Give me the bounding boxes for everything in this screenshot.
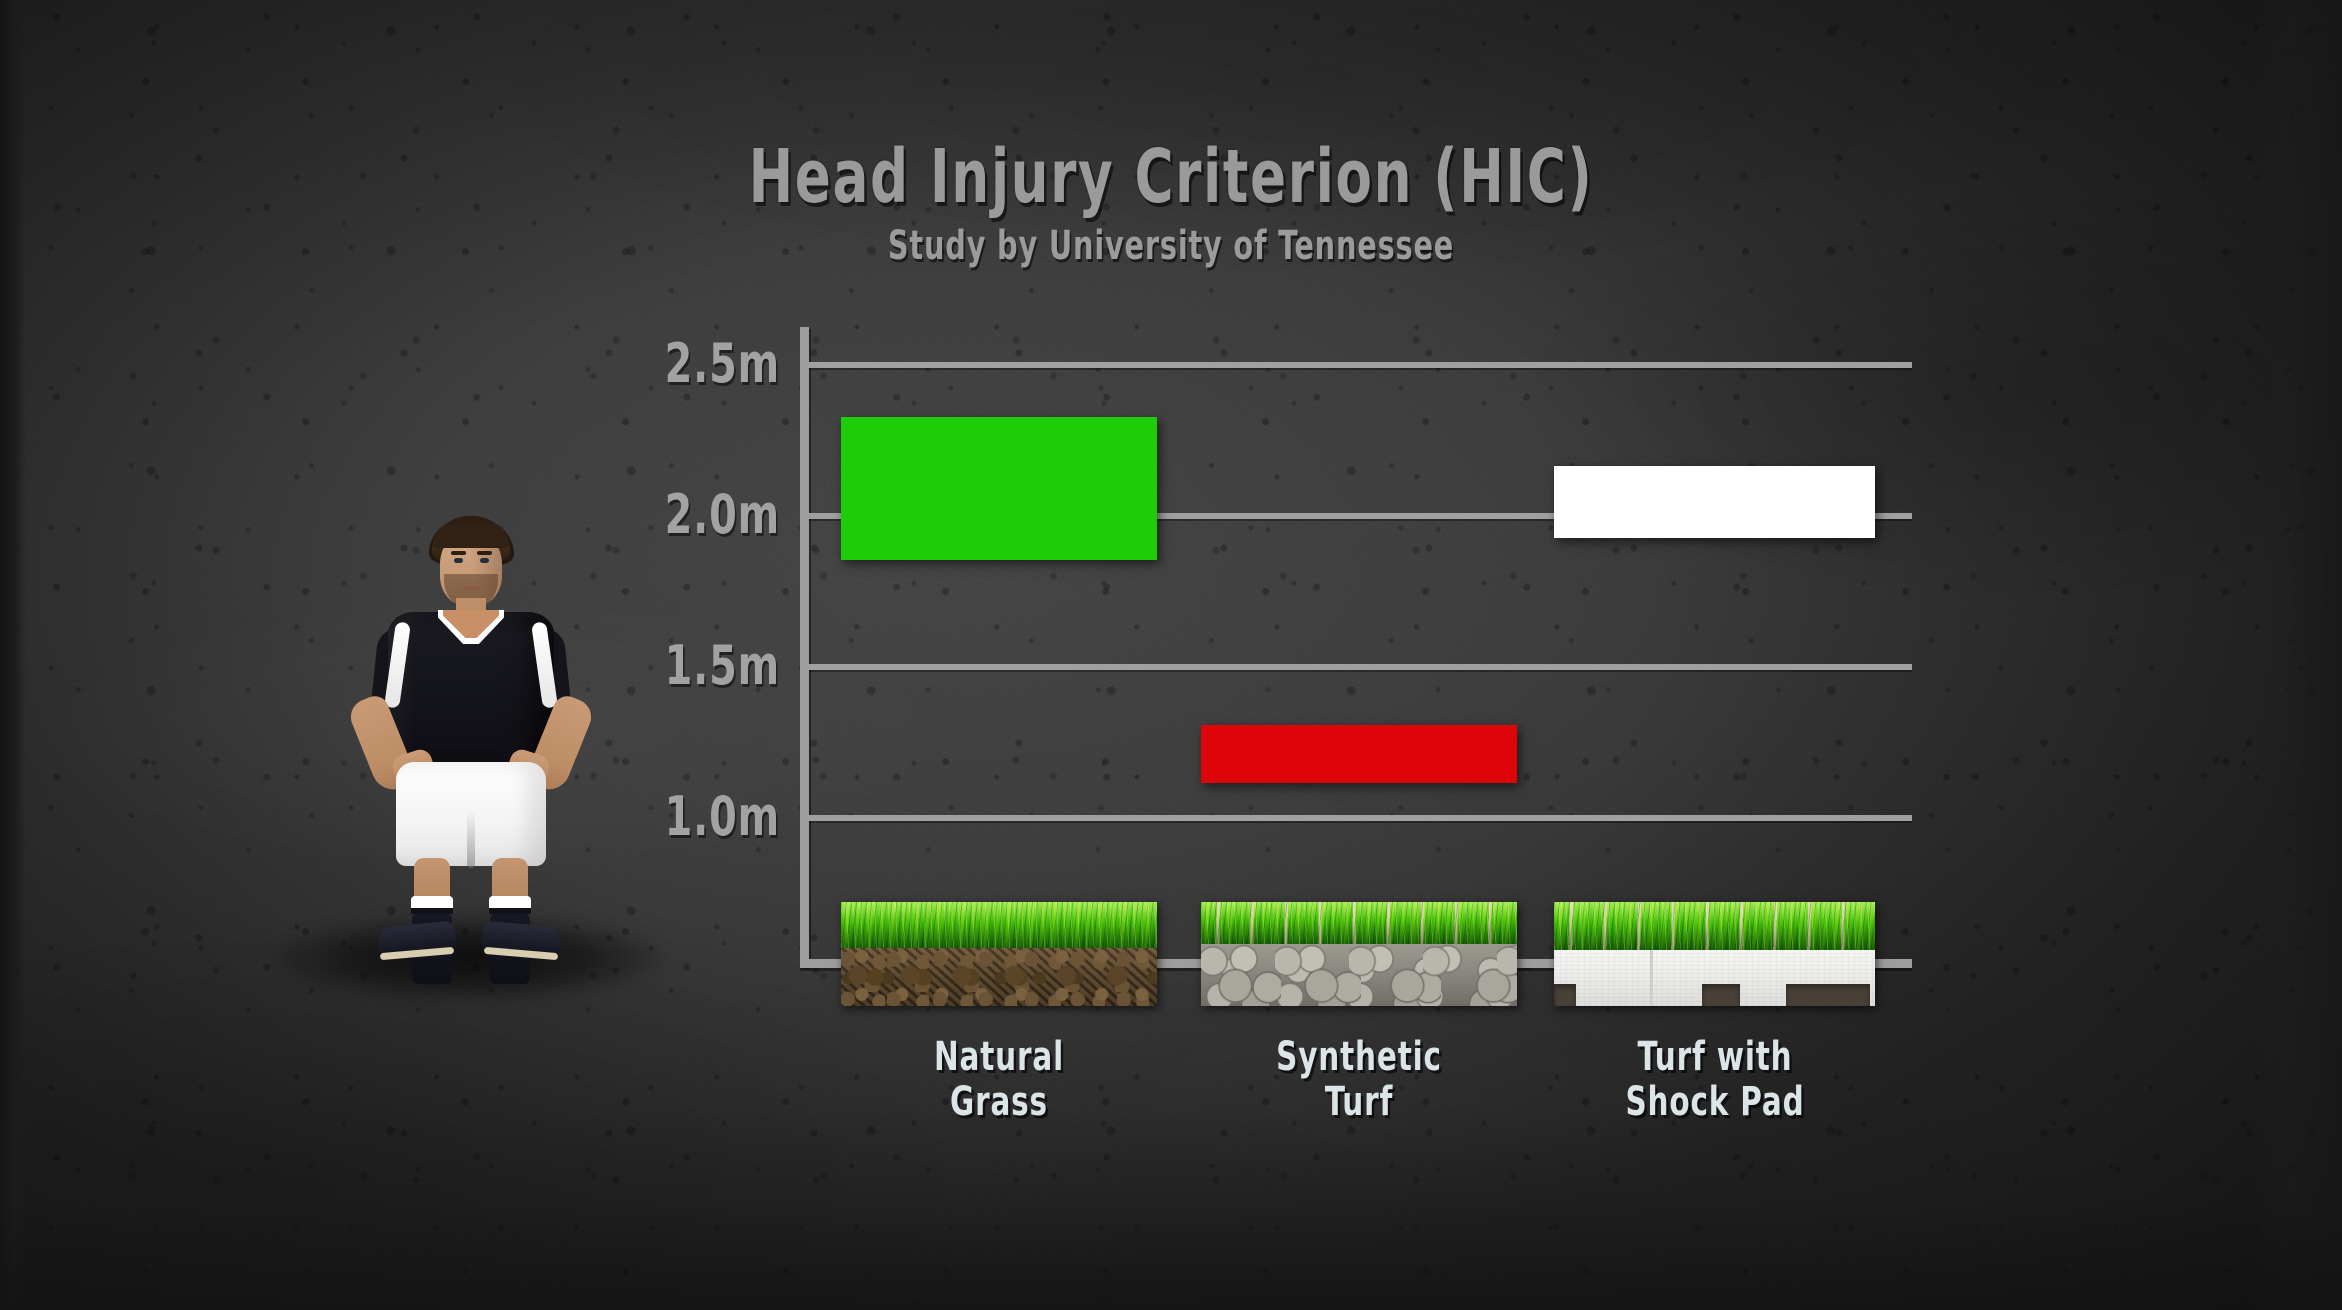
category-label-synthetic-turf: Synthetic Turf bbox=[1236, 1035, 1482, 1125]
player-mouth bbox=[463, 586, 481, 590]
player-eye-left bbox=[454, 558, 463, 563]
bar-synthetic-turf[interactable] bbox=[1201, 725, 1517, 783]
shock-pad-seam bbox=[1650, 950, 1653, 1006]
surface-swatch-turf-with-shock-pad bbox=[1554, 902, 1875, 1006]
player-eye-right bbox=[480, 558, 489, 563]
soccer-player-figure bbox=[330, 500, 610, 970]
player-sock-stripe-left bbox=[411, 908, 453, 914]
shock-pad-notch bbox=[1786, 984, 1870, 1006]
player-sock-stripe-right bbox=[489, 908, 531, 914]
player-eyebrow-left bbox=[451, 551, 466, 555]
bar-turf-with-shock-pad[interactable] bbox=[1554, 466, 1875, 538]
synthetic-grass-layer-icon bbox=[1554, 902, 1875, 950]
player-shorts-seam bbox=[467, 810, 475, 868]
player-ground-shadow bbox=[275, 915, 665, 1001]
grass-layer-icon bbox=[841, 902, 1157, 948]
y-axis-line bbox=[800, 327, 809, 967]
bar-natural-grass[interactable] bbox=[841, 417, 1157, 560]
gridline-1-0m bbox=[809, 815, 1912, 821]
shock-pad-notch bbox=[1702, 984, 1740, 1006]
y-tick-label-1-5m: 1.5m bbox=[608, 634, 780, 697]
shock-pad-layer-icon bbox=[1554, 950, 1875, 1006]
infographic-canvas: Head Injury Criterion (HIC) Study by Uni… bbox=[0, 0, 2342, 1310]
category-label-natural-grass: Natural Grass bbox=[876, 1035, 1122, 1125]
surface-swatch-natural-grass bbox=[841, 902, 1157, 1006]
gridline-1-5m bbox=[809, 664, 1912, 670]
synthetic-grass-layer-icon bbox=[1201, 902, 1517, 944]
gridline-2-5m bbox=[809, 362, 1912, 368]
shock-pad-notch bbox=[1554, 984, 1576, 1006]
player-eyebrow-right bbox=[477, 551, 492, 555]
y-tick-label-2-5m: 2.5m bbox=[608, 332, 780, 395]
category-label-turf-with-shock-pad: Turf with Shock Pad bbox=[1588, 1035, 1842, 1125]
soil-layer-icon bbox=[841, 948, 1157, 1006]
y-tick-label-2-0m: 2.0m bbox=[608, 483, 780, 546]
surface-swatch-synthetic-turf bbox=[1201, 902, 1517, 1006]
y-tick-label-1-0m: 1.0m bbox=[608, 785, 780, 848]
gravel-layer-icon bbox=[1201, 944, 1517, 1006]
